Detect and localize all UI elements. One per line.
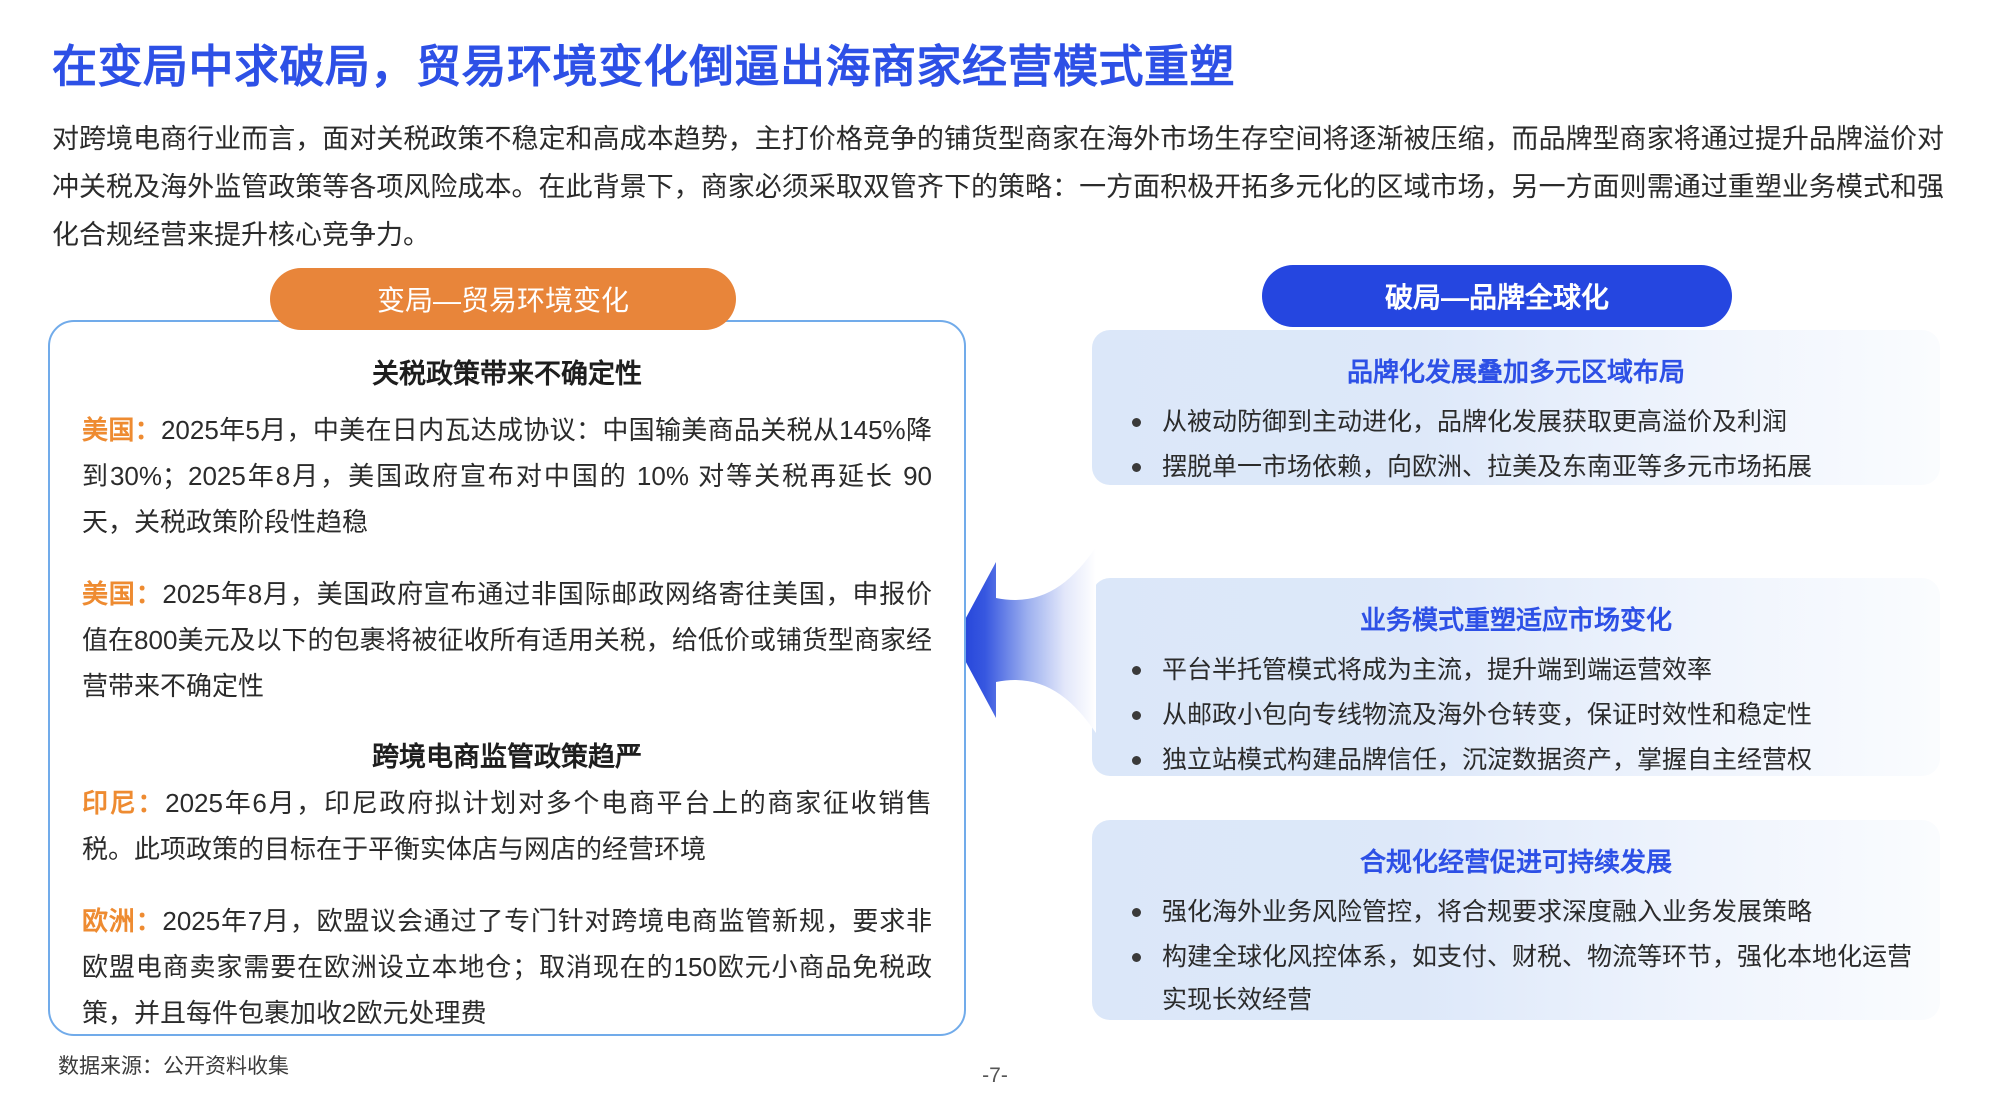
data-source-note: 数据来源：公开资料收集	[58, 1050, 289, 1080]
list-item: 从邮政小包向专线物流及海外仓转变，保证时效性和稳定性	[1118, 694, 1914, 737]
left-paragraph-us-2: 美国：2025年8月，美国政府宣布通过非国际邮政网络寄往美国，申报价值在800美…	[82, 571, 932, 709]
list-item-label: 强化海外业务风险管控，将合规要求深度融入业务发展策略	[1162, 898, 1812, 926]
region-label-europe: 欧洲：	[82, 906, 162, 936]
right-card-3-list: 强化海外业务风险管控，将合规要求深度融入业务发展策略 构建全球化风控体系，如支付…	[1118, 891, 1914, 1022]
right-card-1-heading: 品牌化发展叠加多元区域布局	[1118, 352, 1914, 389]
list-item-label: 摆脱单一市场依赖，向欧洲、拉美及东南亚等多元市场拓展	[1162, 453, 1812, 481]
region-label-indonesia: 印尼：	[82, 788, 165, 818]
lead-paragraph: 对跨境电商行业而言，面对关税政策不稳定和高成本趋势，主打价格竞争的铺货型商家在海…	[52, 115, 1944, 259]
right-card-2-list: 平台半托管模式将成为主流，提升端到端运营效率 从邮政小包向专线物流及海外仓转变，…	[1118, 649, 1914, 782]
bullet-dot-icon	[1132, 418, 1141, 427]
section-badge-left: 变局—贸易环境变化	[270, 268, 736, 330]
page-title: 在变局中求破局，贸易环境变化倒逼出海商家经营模式重塑	[52, 30, 1235, 95]
left-section-heading-1: 关税政策带来不确定性	[82, 352, 932, 391]
right-card-3-heading: 合规化经营促进可持续发展	[1118, 842, 1914, 879]
left-paragraph-us-2-text: 2025年8月，美国政府宣布通过非国际邮政网络寄往美国，申报价值在800美元及以…	[82, 579, 932, 701]
section-badge-left-label: 变局—贸易环境变化	[377, 279, 629, 319]
list-item: 独立站模式构建品牌信任，沉淀数据资产，掌握自主经营权	[1118, 739, 1914, 782]
bullet-dot-icon	[1132, 711, 1141, 720]
bullet-dot-icon	[1132, 908, 1141, 917]
right-card-1-list: 从被动防御到主动进化，品牌化发展获取更高溢价及利润 摆脱单一市场依赖，向欧洲、拉…	[1118, 401, 1914, 489]
brand-globalization-card-1: 品牌化发展叠加多元区域布局 从被动防御到主动进化，品牌化发展获取更高溢价及利润 …	[1092, 330, 1940, 485]
region-label-us-1: 美国：	[82, 415, 161, 445]
list-item: 摆脱单一市场依赖，向欧洲、拉美及东南亚等多元市场拓展	[1118, 446, 1914, 489]
right-card-2-heading: 业务模式重塑适应市场变化	[1118, 600, 1914, 637]
list-item-label: 从邮政小包向专线物流及海外仓转变，保证时效性和稳定性	[1162, 701, 1812, 729]
list-item-label: 平台半托管模式将成为主流，提升端到端运营效率	[1162, 656, 1712, 684]
section-badge-right-label: 破局—品牌全球化	[1385, 276, 1609, 316]
left-paragraph-indonesia-text: 2025年6月，印尼政府拟计划对多个电商平台上的商家征收销售税。此项政策的目标在…	[82, 788, 932, 864]
list-item: 从被动防御到主动进化，品牌化发展获取更高溢价及利润	[1118, 401, 1914, 444]
left-section-heading-2: 跨境电商监管政策趋严	[82, 735, 932, 774]
page-number: -7-	[950, 1064, 1040, 1088]
list-item: 强化海外业务风险管控，将合规要求深度融入业务发展策略	[1118, 891, 1914, 934]
trade-environment-card: 关税政策带来不确定性 美国：2025年5月，中美在日内瓦达成协议：中国输美商品关…	[48, 320, 966, 1036]
left-paragraph-us-1-text: 2025年5月，中美在日内瓦达成协议：中国输美商品关税从145%降到30%；20…	[82, 415, 932, 537]
brand-globalization-card-2: 业务模式重塑适应市场变化 平台半托管模式将成为主流，提升端到端运营效率 从邮政小…	[1092, 578, 1940, 776]
list-item: 平台半托管模式将成为主流，提升端到端运营效率	[1118, 649, 1914, 692]
left-paragraph-europe-text: 2025年7月，欧盟议会通过了专门针对跨境电商监管新规，要求非欧盟电商卖家需要在…	[82, 906, 932, 1028]
bullet-dot-icon	[1132, 756, 1141, 765]
slide-root: 在变局中求破局，贸易环境变化倒逼出海商家经营模式重塑 对跨境电商行业而言，面对关…	[0, 0, 1989, 1098]
left-paragraph-us-1: 美国：2025年5月，中美在日内瓦达成协议：中国输美商品关税从145%降到30%…	[82, 407, 932, 545]
left-pointing-arrow-icon	[950, 545, 1100, 735]
left-paragraph-indonesia: 印尼：2025年6月，印尼政府拟计划对多个电商平台上的商家征收销售税。此项政策的…	[82, 780, 932, 872]
list-item-label: 独立站模式构建品牌信任，沉淀数据资产，掌握自主经营权	[1162, 746, 1812, 774]
region-label-us-2: 美国：	[82, 579, 162, 609]
list-item: 构建全球化风控体系，如支付、财税、物流等环节，强化本地化运营实现长效经营	[1118, 936, 1914, 1022]
list-item-label: 构建全球化风控体系，如支付、财税、物流等环节，强化本地化运营实现长效经营	[1162, 943, 1912, 1014]
bullet-dot-icon	[1132, 463, 1141, 472]
bullet-dot-icon	[1132, 953, 1141, 962]
left-paragraph-europe: 欧洲：2025年7月，欧盟议会通过了专门针对跨境电商监管新规，要求非欧盟电商卖家…	[82, 898, 932, 1036]
list-item-label: 从被动防御到主动进化，品牌化发展获取更高溢价及利润	[1162, 408, 1787, 436]
brand-globalization-card-3: 合规化经营促进可持续发展 强化海外业务风险管控，将合规要求深度融入业务发展策略 …	[1092, 820, 1940, 1020]
section-badge-right: 破局—品牌全球化	[1262, 265, 1732, 327]
bullet-dot-icon	[1132, 666, 1141, 675]
